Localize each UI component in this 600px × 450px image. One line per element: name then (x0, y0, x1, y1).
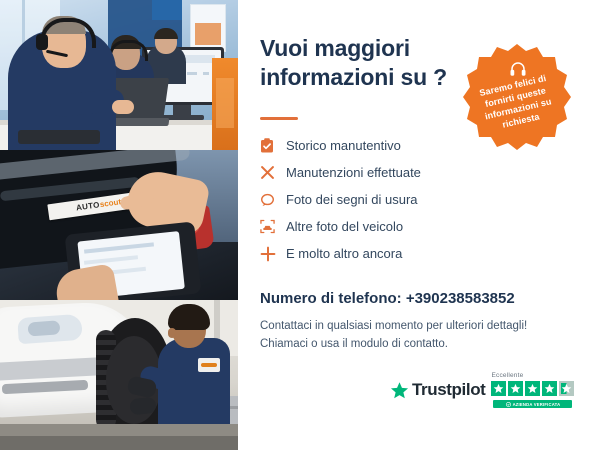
photo-mechanic-inspecting-wheel-on-lift (0, 300, 238, 450)
contact-subtext-line-1: Contattaci in qualsiasi momento per ulte… (260, 318, 560, 336)
foreground-keyboard (18, 130, 100, 144)
car-frame-icon (260, 219, 286, 234)
list-item-label: Manutenzioni effettuate (286, 165, 421, 180)
orange-partition (212, 58, 238, 150)
speech-bubble-icon (260, 193, 286, 207)
agent-background-1-headset-icon (109, 40, 148, 61)
list-item: Manutenzioni effettuate (260, 159, 500, 186)
trustpilot-name: Trustpilot (412, 380, 485, 400)
clipboard-check-icon (260, 138, 286, 153)
list-item-label: E molto altro ancora (286, 246, 402, 261)
star-filled (542, 381, 557, 396)
verified-check-icon (506, 402, 511, 407)
list-item-label: Foto dei segni di usura (286, 192, 418, 207)
list-item: E molto altro ancora (260, 240, 500, 267)
list-item: Storico manutentivo (260, 132, 500, 159)
sticker-text-suffix: scout (99, 197, 121, 209)
technician-hand-lower (53, 263, 119, 300)
trustpilot-rating: Eccellente (491, 372, 574, 408)
star-filled (525, 381, 540, 396)
feature-list: Storico manutentivo Manutenzioni effettu… (260, 132, 500, 267)
lift-platform-shadow (0, 436, 238, 450)
trustpilot-badge[interactable]: Trustpilot Eccellente (390, 372, 574, 408)
list-item-label: Storico manutentivo (286, 138, 401, 153)
star-filled (491, 381, 506, 396)
content-panel: Vuoi maggiori informazioni su ? Saremo f… (238, 0, 600, 450)
title-underline-rule (260, 117, 298, 120)
page-title-line-2: informazioni su ? (260, 63, 475, 92)
wrench-cross-icon (260, 165, 286, 180)
car-headlight (17, 314, 83, 344)
page-title: Vuoi maggiori informazioni su ? (260, 34, 475, 92)
trustpilot-star-icon (390, 381, 409, 400)
headset-icon (508, 60, 528, 78)
plus-icon (260, 246, 286, 262)
photo-strip: AUTO scout (0, 0, 238, 450)
lift-platform (0, 424, 238, 436)
page-title-line-1: Vuoi maggiori (260, 34, 475, 63)
wall-poster (190, 4, 226, 52)
uniform-logo (198, 358, 220, 372)
list-item: Foto dei segni di usura (260, 186, 500, 213)
contact-subtext-line-2: Chiamaci o usa il modulo di contatto. (260, 336, 560, 354)
star-filled (508, 381, 523, 396)
trustpilot-rating-label: Eccellente (491, 372, 523, 379)
list-item-label: Altre foto del veicolo (286, 219, 403, 234)
star-half (559, 381, 574, 396)
photo-call-center-agents-with-headsets (0, 0, 238, 150)
trustpilot-stars (491, 381, 574, 396)
mechanic-ear (168, 328, 176, 338)
verified-company-ribbon: AZIENDA VERIFICATA (493, 400, 572, 408)
photo-technician-applying-sticker-and-tablet: AUTO scout (0, 150, 238, 300)
trustpilot-logo: Trustpilot (390, 380, 485, 400)
phone-number-text[interactable]: Numero di telefono: +390238583852 (260, 290, 515, 307)
verified-company-label: AZIENDA VERIFICATA (513, 402, 561, 407)
contact-subtext: Contattaci in qualsiasi momento per ulte… (260, 318, 560, 354)
headset-earcup (36, 34, 48, 50)
sticker-text-prefix: AUTO (75, 200, 100, 212)
foreground-agent-hand (112, 100, 134, 114)
foreground-agent-headset-icon (40, 18, 96, 48)
wall-poster-small (152, 0, 182, 20)
list-item: Altre foto del veicolo (260, 213, 500, 240)
vehicle-info-banner: AUTO scout (0, 0, 600, 450)
